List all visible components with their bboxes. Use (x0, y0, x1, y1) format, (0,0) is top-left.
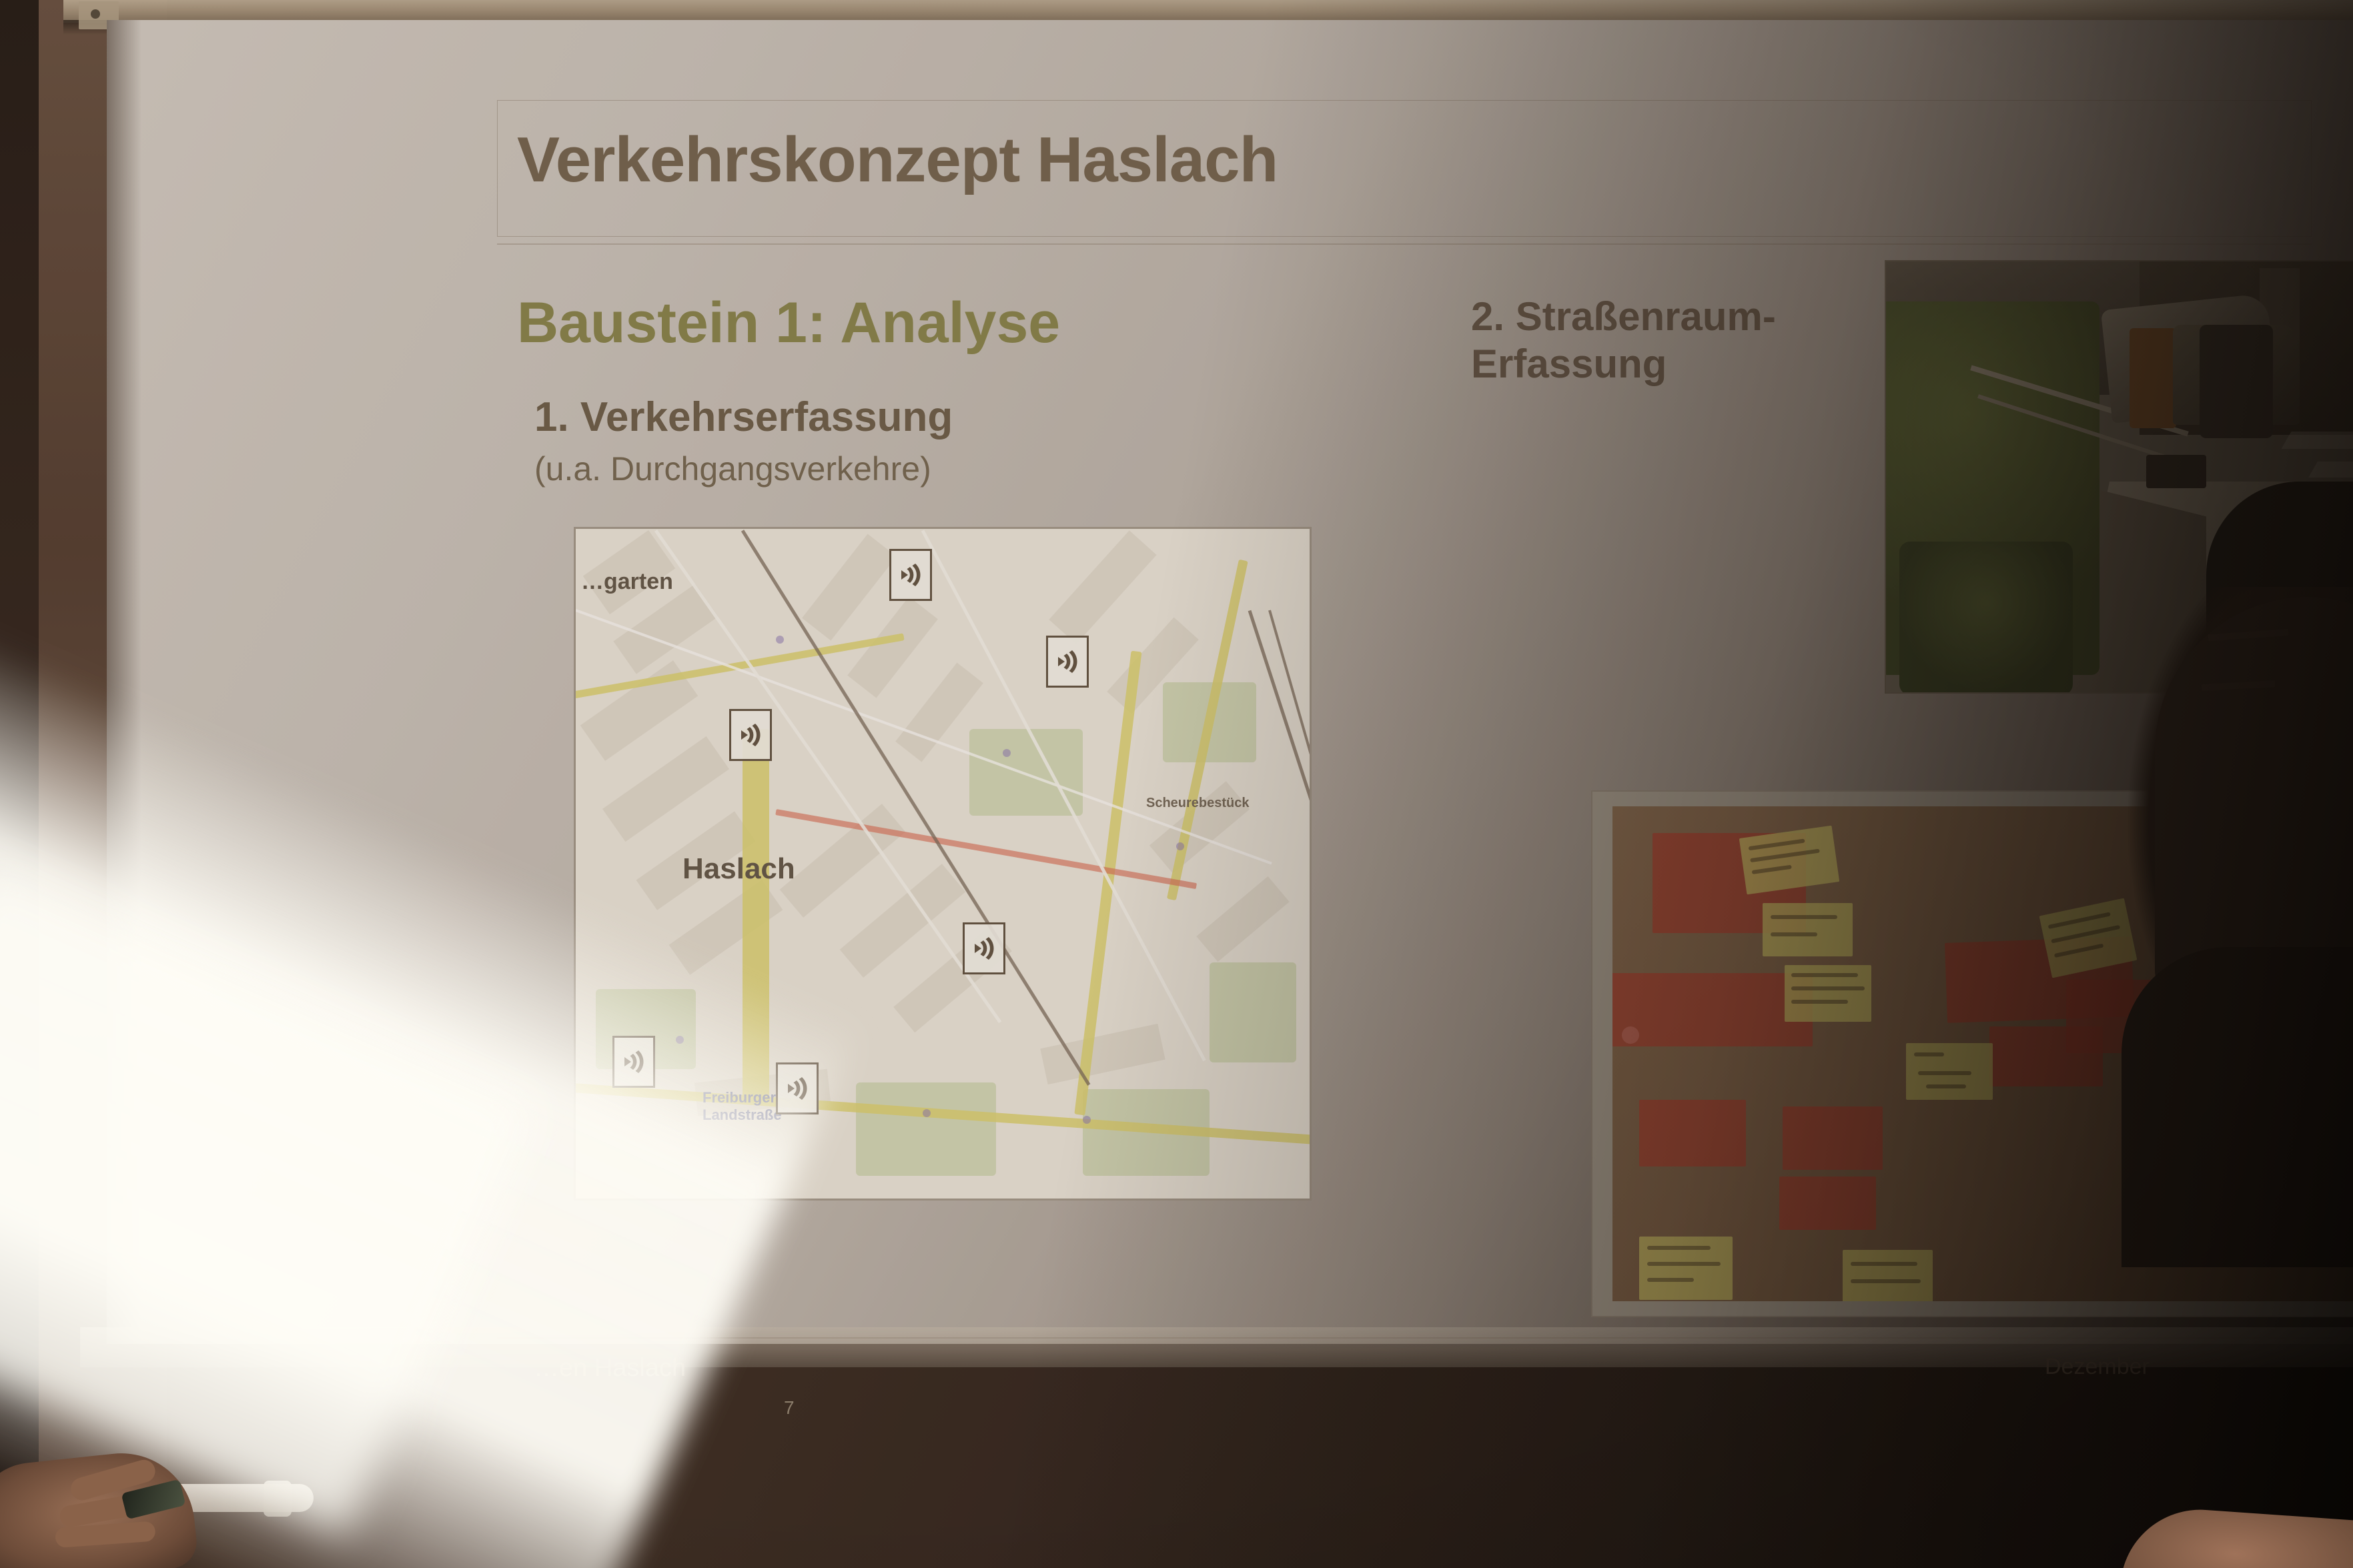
item-1-title: 1. Verkehrserfassung (534, 394, 953, 441)
wall-left-edge (0, 0, 39, 1568)
signal-waves-icon (1054, 648, 1081, 675)
footer-right-text: Dezember (2045, 1354, 2150, 1380)
item-2-title: 2. Straßenraum- Erfassung (1471, 293, 1898, 388)
projected-slide: Verkehrskonzept Haslach Baustein 1: Anal… (497, 100, 2338, 1391)
sensor-marker-6[interactable] (776, 1062, 819, 1114)
screen-left-shadow (107, 20, 141, 1344)
sensor-marker-3[interactable] (729, 709, 772, 761)
sticky-note (1906, 1043, 1993, 1100)
sticky-note (1785, 965, 1871, 1022)
title-divider (497, 243, 2312, 245)
person-nose-silhouette (2176, 860, 2216, 900)
sticky-note (1763, 903, 1853, 956)
sticky-note (1639, 1237, 1733, 1300)
footer-left-text: …en Haslach (534, 1354, 686, 1383)
page-title: Verkehrskonzept Haslach (517, 123, 1278, 197)
sticky-note (1639, 1100, 1746, 1166)
footer-divider (497, 1337, 2338, 1339)
map-label-haslach: Haslach (682, 852, 795, 886)
signal-waves-icon (620, 1048, 647, 1075)
sensor-marker-1[interactable] (889, 549, 932, 601)
map-label-garten: …garten (581, 569, 673, 595)
photo-hedge-lower (1899, 542, 2073, 694)
bracket-screw (91, 9, 100, 19)
photo-road-marking-2 (2308, 462, 2353, 478)
sensor-marker-4[interactable] (963, 922, 1005, 974)
signal-waves-icon (737, 722, 764, 748)
item-1-subtitle: (u.a. Durchgangsverkehre) (534, 450, 931, 488)
photo-orange-post (2130, 328, 2176, 428)
slide-page-number: 7 (784, 1397, 795, 1419)
sticky-note (1779, 1177, 1876, 1230)
sensor-marker-5[interactable] (612, 1036, 655, 1088)
photo-curb-stone (2146, 455, 2206, 488)
traffic-survey-map: …garten Haslach Freiburger Landstraße Sc… (574, 527, 1312, 1201)
map-label-scheurebestueck: Scheurebestück (1146, 796, 1250, 811)
photo-road-marking-1 (2281, 432, 2353, 449)
screen-roller-housing (63, 0, 2353, 23)
sticky-note (1783, 1106, 1883, 1170)
screen-handle-nub[interactable] (264, 1481, 292, 1517)
sensor-marker-2[interactable] (1046, 636, 1089, 688)
sticky-note (1739, 826, 1839, 895)
sticky-note (1989, 1026, 2103, 1086)
sticky-note (1612, 973, 1813, 1046)
photo-scooter (2200, 325, 2273, 438)
sticky-note (1843, 1250, 1933, 1301)
signal-waves-icon (784, 1075, 811, 1102)
person-shoulder-silhouette (2122, 947, 2353, 1267)
section-heading: Baustein 1: Analyse (517, 290, 1060, 356)
signal-waves-icon (971, 935, 997, 962)
photo-scene: Verkehrskonzept Haslach Baustein 1: Anal… (0, 0, 2353, 1568)
signal-waves-icon (897, 562, 924, 588)
